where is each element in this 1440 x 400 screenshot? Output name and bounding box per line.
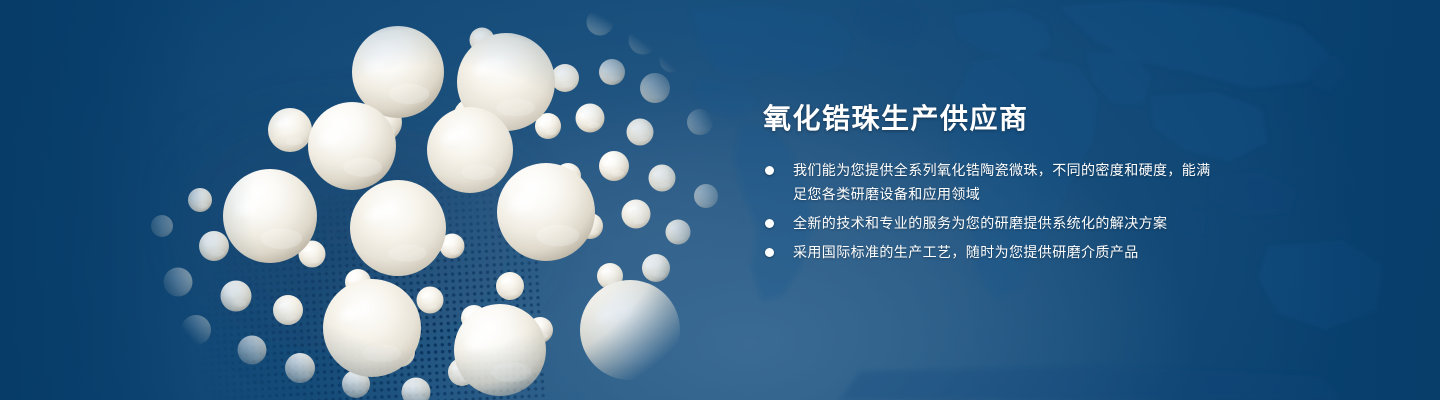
banner-bullet-list: 我们能为您提供全系列氧化锆陶瓷微珠，不同的密度和硬度，能满足您各类研磨设备和应用…: [763, 158, 1383, 264]
banner-copy: 氧化锆珠生产供应商 我们能为您提供全系列氧化锆陶瓷微珠，不同的密度和硬度，能满足…: [763, 102, 1383, 264]
zirconia-beads-image: [0, 0, 780, 400]
banner-headline: 氧化锆珠生产供应商: [763, 102, 1383, 136]
banner-bullet-item: 全新的技术和专业的服务为您的研磨提供系统化的解决方案: [763, 211, 1223, 235]
banner-bullet-text: 全新的技术和专业的服务为您的研磨提供系统化的解决方案: [793, 215, 1167, 231]
banner-bullet-text: 采用国际标准的生产工艺，随时为您提供研磨介质产品: [793, 244, 1139, 260]
banner-bullet-item: 我们能为您提供全系列氧化锆陶瓷微珠，不同的密度和硬度，能满足您各类研磨设备和应用…: [763, 158, 1223, 206]
bullet-dot-icon: [765, 166, 774, 175]
banner-bullet-item: 采用国际标准的生产工艺，随时为您提供研磨介质产品: [763, 240, 1223, 264]
bullet-dot-icon: [765, 219, 774, 228]
hero-banner: 氧化锆珠生产供应商 我们能为您提供全系列氧化锆陶瓷微珠，不同的密度和硬度，能满足…: [0, 0, 1440, 400]
bullet-dot-icon: [765, 248, 774, 257]
banner-bullet-text: 我们能为您提供全系列氧化锆陶瓷微珠，不同的密度和硬度，能满足您各类研磨设备和应用…: [793, 162, 1211, 202]
